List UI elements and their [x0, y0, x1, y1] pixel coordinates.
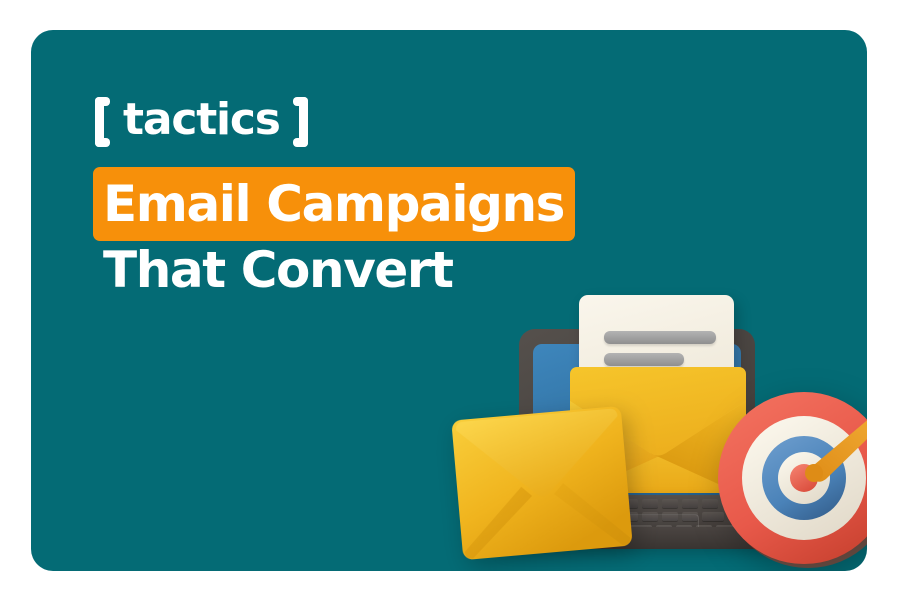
document-text-line-2	[604, 353, 684, 366]
left-bracket-icon	[95, 97, 112, 147]
document-text-line-1	[604, 331, 716, 344]
email-campaign-illustration	[444, 273, 867, 571]
brand-wordmark: tactics	[123, 98, 280, 142]
arrow-icon	[774, 365, 867, 525]
closed-envelope	[451, 406, 633, 560]
right-bracket-icon	[291, 97, 308, 147]
poster-canvas: tactics Email Campaigns That Convert	[0, 0, 900, 600]
poster-card: tactics Email Campaigns That Convert	[31, 30, 867, 571]
headline-line-1: Email Campaigns	[93, 167, 575, 241]
brand-logo: tactics	[95, 93, 308, 151]
